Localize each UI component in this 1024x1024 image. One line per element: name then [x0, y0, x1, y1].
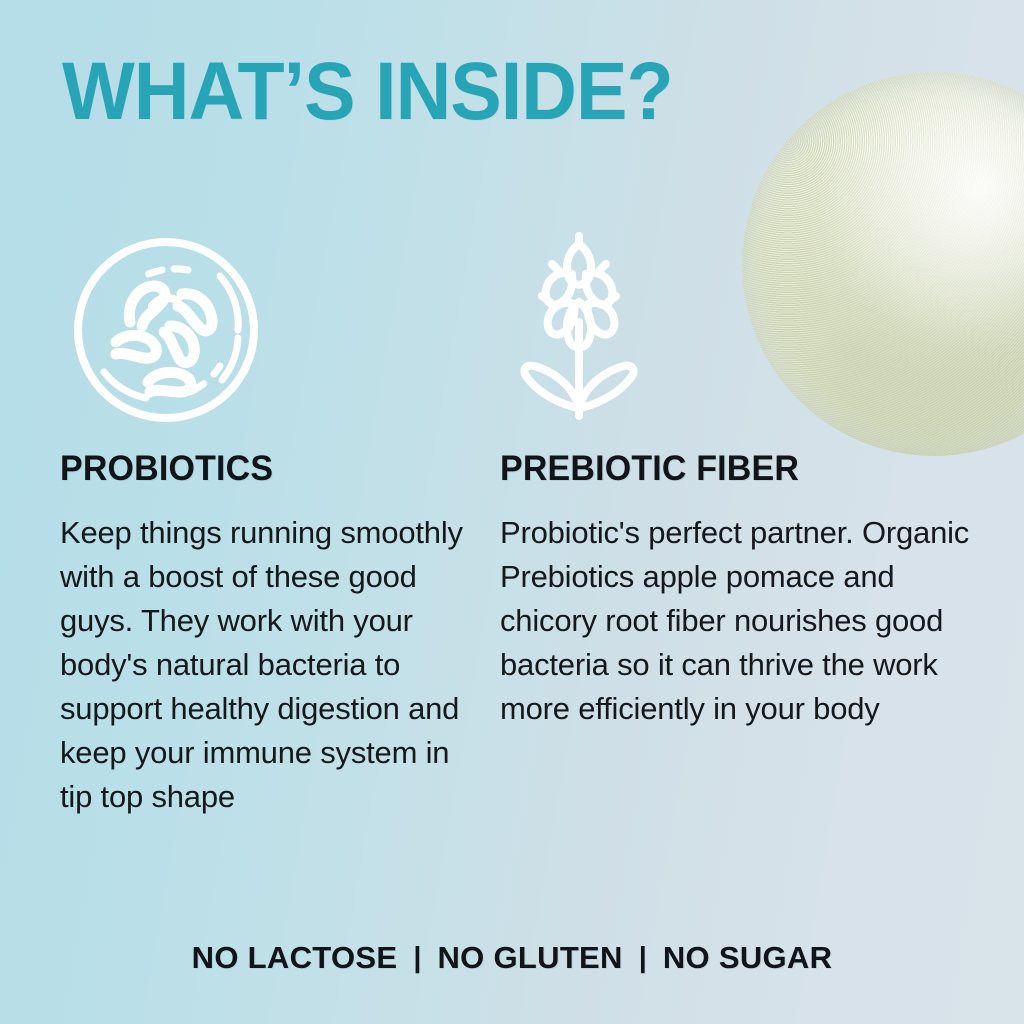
petri-dish-bacteria-icon [70, 234, 262, 426]
footer-claims: NO LACTOSE | NO GLUTEN | NO SUGAR [0, 940, 1024, 976]
column-probiotics: PROBIOTICS Keep things running smoothly … [0, 225, 500, 819]
claim-no-gluten: NO GLUTEN [437, 940, 622, 976]
column-heading-prebiotic-fiber: PREBIOTIC FIBER [500, 449, 969, 489]
page-title: WHAT’S INSIDE? [62, 46, 673, 138]
claim-no-sugar: NO SUGAR [663, 940, 832, 976]
column-prebiotic-fiber: PREBIOTIC FIBER Probiotic's perfect part… [500, 225, 1024, 819]
column-heading-probiotics: PROBIOTICS [60, 449, 467, 489]
infographic-canvas: WHAT’S INSIDE? [0, 0, 1024, 1024]
content-columns: PROBIOTICS Keep things running smoothly … [0, 225, 1024, 819]
probiotics-icon-wrap [60, 225, 480, 435]
claim-no-lactose: NO LACTOSE [192, 940, 398, 976]
prebiotic-icon-wrap [500, 225, 984, 435]
claim-separator: | [623, 942, 663, 975]
column-body-probiotics: Keep things running smoothly with a boos… [60, 511, 480, 819]
wheat-stalk-icon [504, 230, 654, 430]
column-body-prebiotic-fiber: Probiotic's perfect partner. Organic Pre… [500, 511, 984, 731]
claim-separator: | [397, 942, 437, 975]
